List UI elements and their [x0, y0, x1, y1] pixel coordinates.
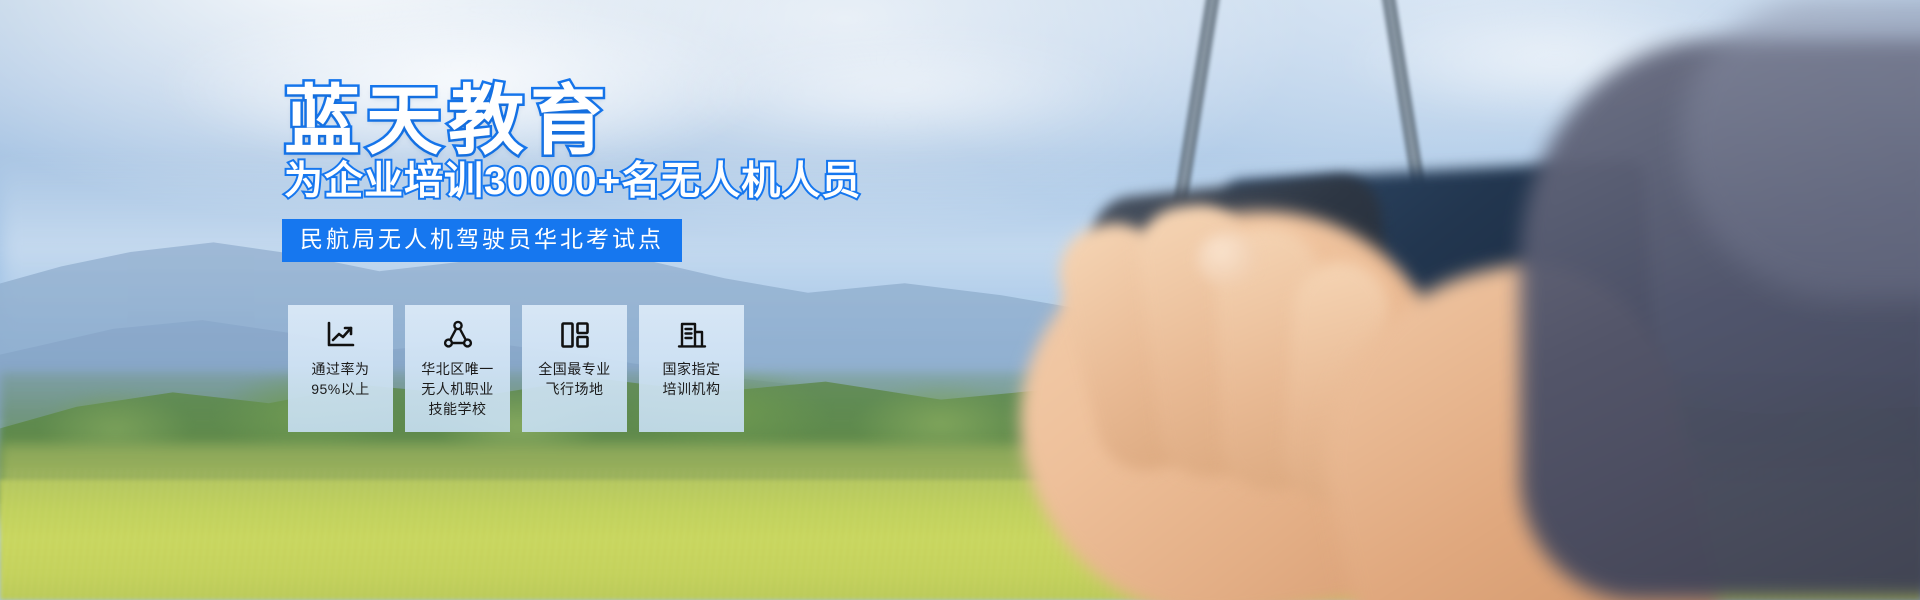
- feature-card-label: 通过率为 95%以上: [311, 360, 370, 400]
- feature-card-label: 华北区唯一 无人机职业 技能学校: [421, 360, 494, 420]
- trending-up-chart-icon: [324, 319, 358, 351]
- banner-content: 蓝天教育 为企业培训30000+名无人机人员 民航局无人机驾驶员华北考试点 通过…: [0, 0, 1920, 600]
- hero-banner: 蓝天教育 为企业培训30000+名无人机人员 民航局无人机驾驶员华北考试点 通过…: [0, 0, 1920, 600]
- feature-card-only-school[interactable]: 华北区唯一 无人机职业 技能学校: [405, 305, 510, 432]
- status-badge: 民航局无人机驾驶员华北考试点: [282, 219, 682, 262]
- feature-card-national-institution[interactable]: 国家指定 培训机构: [639, 305, 744, 432]
- network-nodes-icon: [441, 319, 475, 351]
- layout-grid-icon: [558, 319, 592, 351]
- feature-card-pass-rate[interactable]: 通过率为 95%以上: [288, 305, 393, 432]
- building-icon: [675, 319, 709, 351]
- feature-card-list: 通过率为 95%以上 华北区唯一 无人机职业 技能学校: [288, 305, 744, 432]
- feature-card-flight-field[interactable]: 全国最专业 飞行场地: [522, 305, 627, 432]
- feature-card-label: 国家指定 培训机构: [663, 360, 721, 400]
- page-title: 蓝天教育: [284, 84, 612, 160]
- page-subtitle: 为企业培训30000+名无人机人员: [284, 162, 861, 201]
- feature-card-label: 全国最专业 飞行场地: [538, 360, 611, 400]
